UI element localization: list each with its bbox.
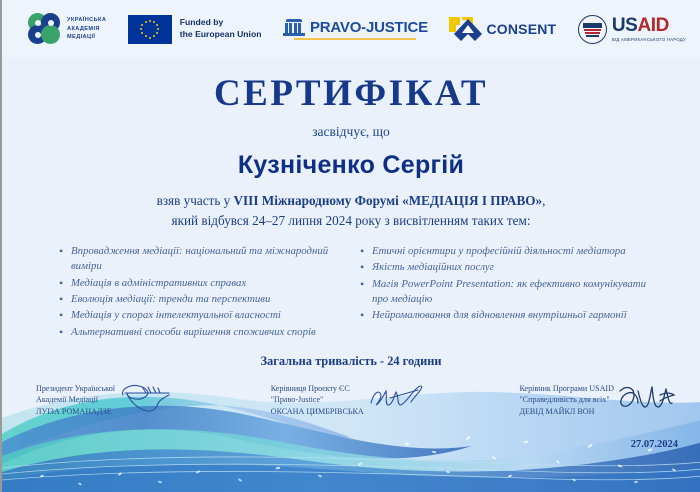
eu-flag-icon <box>128 15 172 44</box>
signature-block-usaid-program-head: Керівник Програми USAID "Справедливість … <box>519 381 678 417</box>
eu-funding-logo: Funded by the European Union <box>128 15 262 44</box>
eu-star-icon <box>149 37 151 39</box>
participation-date-line: який відбувся 24–27 липня 2024 року з ви… <box>16 211 686 231</box>
signature-block-eu-project-head: Керівниця Проєкту ЄС "Право-Justice" ОКС… <box>271 381 428 417</box>
topic-item: Медіація у спорах інтелектуальної власно… <box>71 308 345 323</box>
usaid-label-aid: AID <box>637 15 669 36</box>
eu-funding-label: Funded by the European Union <box>180 17 262 40</box>
signatory-lines: Керівниця Проєкту ЄС "Право-Justice" ОКС… <box>271 381 364 417</box>
topic-item: Впровадження медіації: національний та м… <box>71 244 345 275</box>
pravo-justice-logo: PRAVO-JUSTICE <box>283 19 428 40</box>
pravo-justice-label: PRAVO-JUSTICE <box>310 19 428 36</box>
participation-statement: взяв участь у VIII Міжнародному Форумі «… <box>16 191 686 232</box>
eu-star-icon <box>153 35 155 37</box>
certifies-that-text: засвідчує, що <box>16 124 686 140</box>
eu-star-icon <box>140 28 142 30</box>
topic-item: Нейромалювання для відновлення внутрішнь… <box>372 308 646 323</box>
uam-logo: УКРАЇНСЬКА АКАДЕМІЯ МЕДІАЦІЇ <box>28 13 106 45</box>
eu-star-icon <box>141 24 143 26</box>
topics-column-left: Впровадження медіації: національний та м… <box>56 244 345 341</box>
eu-star-icon <box>153 21 155 23</box>
eu-star-icon <box>156 24 158 26</box>
eu-star-icon <box>149 20 151 22</box>
certificate-body: СЕРТИФІКАТ засвідчує, що Кузніченко Серг… <box>2 72 700 369</box>
issue-date: 27.07.2024 <box>631 439 678 450</box>
consent-logo: CONSENT <box>449 16 556 42</box>
recipient-name: Кузніченко Сергій <box>16 151 686 180</box>
eu-star-icon <box>145 35 147 37</box>
certificate-document: УКРАЇНСЬКА АКАДЕМІЯ МЕДІАЦІЇ Funded by t… <box>0 0 700 492</box>
topic-item: Медіація в адміністративних справах <box>71 276 345 291</box>
uam-logo-label: УКРАЇНСЬКА АКАДЕМІЯ МЕДІАЦІЇ <box>67 16 106 42</box>
participation-suffix: , <box>542 193 545 208</box>
eu-star-icon <box>157 28 159 30</box>
page-title: СЕРТИФІКАТ <box>16 72 686 115</box>
signature-block-president-uam: Президент Української Академії Медіації … <box>36 381 179 417</box>
topic-item: Магія PowerPoint Presentation: як ефекти… <box>372 277 646 308</box>
consent-label: CONSENT <box>486 21 556 37</box>
chevron-arrow-icon <box>449 16 483 42</box>
eu-star-icon <box>145 21 147 23</box>
courthouse-building-icon <box>283 19 305 36</box>
signature-row: Президент Української Академії Медіації … <box>2 369 700 417</box>
topics-column-right: Етичні орієнтири у професійній діяльност… <box>357 244 646 341</box>
participation-prefix: взяв участь у <box>157 193 234 208</box>
handwritten-signature-icon <box>117 381 179 415</box>
handwritten-signature-icon <box>616 381 678 415</box>
topic-item: Еволюція медіації: тренди та перспективи <box>71 292 345 307</box>
handwritten-signature-icon <box>366 381 428 415</box>
total-duration: Загальна тривалість - 24 години <box>16 354 686 369</box>
topic-item: Альтернативні способи вирішення споживчи… <box>71 325 345 340</box>
usaid-seal-icon <box>578 15 607 44</box>
topics-section: Впровадження медіації: національний та м… <box>16 244 686 341</box>
usaid-subtitle: ВІД АМЕРИКАНСЬКОГО НАРОДУ <box>612 37 686 42</box>
usaid-label-us: US <box>612 15 638 36</box>
usaid-logo: USAID ВІД АМЕРИКАНСЬКОГО НАРОДУ <box>578 15 686 44</box>
forum-name: VIII Міжнародному Форумі «МЕДІАЦІЯ І ПРА… <box>234 193 543 208</box>
signatory-lines: Керівник Програми USAID "Справедливість … <box>519 381 614 417</box>
topic-item: Якість медіаційних послуг <box>372 260 646 275</box>
signatory-lines: Президент Української Академії Медіації … <box>36 381 115 417</box>
overlapping-circles-icon <box>28 13 62 45</box>
eu-star-icon <box>156 32 158 34</box>
logo-bar: УКРАЇНСЬКА АКАДЕМІЯ МЕДІАЦІЇ Funded by t… <box>2 0 700 58</box>
topic-item: Етичні орієнтири у професійній діяльност… <box>372 244 646 259</box>
pravo-justice-underline <box>294 38 416 40</box>
eu-star-icon <box>141 32 143 34</box>
